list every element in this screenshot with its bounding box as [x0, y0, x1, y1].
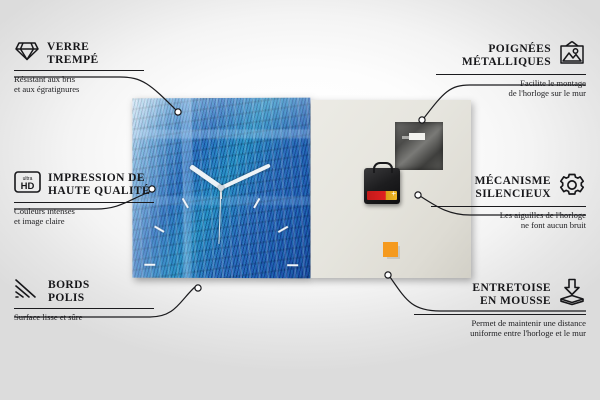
feature-description: Les aiguilles de l'horloge ne font aucun…	[431, 210, 586, 231]
feature-description: Facilite le montage de l'horloge sur le …	[436, 78, 586, 99]
clock-hour-hand	[189, 164, 223, 190]
feature-mecanisme-silencieux: MÉCANISMESILENCIEUX Les aiguilles de l'h…	[431, 172, 586, 231]
divider	[14, 202, 154, 203]
feature-description: Résistant aux bris et aux égratignures	[14, 74, 144, 95]
polished-edge-icon	[14, 278, 41, 305]
hour-tick	[253, 198, 260, 209]
feature-title: IMPRESSION DEHAUTE QUALITÉ	[48, 172, 150, 198]
clock-movement	[364, 168, 400, 204]
clock-center-cap	[218, 185, 224, 191]
clock-front-view	[132, 98, 310, 279]
feature-title: MÉCANISMESILENCIEUX	[475, 175, 551, 201]
feature-title: VERRETREMPÉ	[47, 41, 99, 67]
clock-minute-hand	[220, 163, 271, 190]
feature-bords-polis: BORDSPOLIS Surface lisse et sûre	[14, 278, 154, 322]
feature-title: POIGNÉESMÉTALLIQUES	[462, 43, 551, 69]
hour-tick	[278, 226, 289, 233]
picture-hanger-icon	[558, 40, 586, 71]
feature-description: Surface lisse et sûre	[14, 312, 154, 322]
feature-title: BORDSPOLIS	[48, 279, 90, 305]
foam-spacer-icon	[558, 278, 586, 311]
hour-tick	[154, 226, 164, 233]
metal-hanger-plate	[395, 122, 443, 170]
product-image	[132, 98, 472, 286]
hour-tick	[287, 264, 298, 266]
divider	[14, 70, 144, 71]
feature-impression-haute-qualite: ultra HD IMPRESSION DEHAUTE QUALITÉ Coul…	[14, 170, 154, 227]
glass-reflection-overlay	[132, 98, 310, 279]
feature-description: Permet de maintenir une distance uniform…	[414, 318, 586, 339]
feature-poignees-metalliques: POIGNÉESMÉTALLIQUES Facilite le montage …	[436, 40, 586, 99]
gear-icon	[558, 172, 586, 203]
foam-spacer-pad	[383, 242, 398, 257]
product-feature-infographic: VERRETREMPÉ Résistant aux bris et aux ég…	[0, 0, 600, 400]
divider	[436, 74, 586, 75]
feature-description: Couleurs intenses et image claire	[14, 206, 154, 227]
battery	[367, 191, 397, 200]
hour-tick	[182, 198, 189, 209]
hour-tick	[220, 188, 222, 199]
clock-second-hand	[218, 188, 221, 244]
divider	[414, 314, 586, 315]
divider	[431, 206, 586, 207]
feature-entretoise-en-mousse: ENTRETOISEEN MOUSSE Permet de maintenir …	[414, 278, 586, 339]
feature-verre-trempe: VERRETREMPÉ Résistant aux bris et aux ég…	[14, 40, 144, 95]
divider	[14, 308, 154, 309]
hour-tick	[144, 264, 155, 266]
clock-face	[132, 98, 310, 279]
ultra-hd-icon: ultra HD	[14, 170, 41, 199]
diamond-icon	[14, 40, 40, 67]
svg-text:HD: HD	[21, 181, 35, 192]
feature-title: ENTRETOISEEN MOUSSE	[472, 282, 551, 308]
